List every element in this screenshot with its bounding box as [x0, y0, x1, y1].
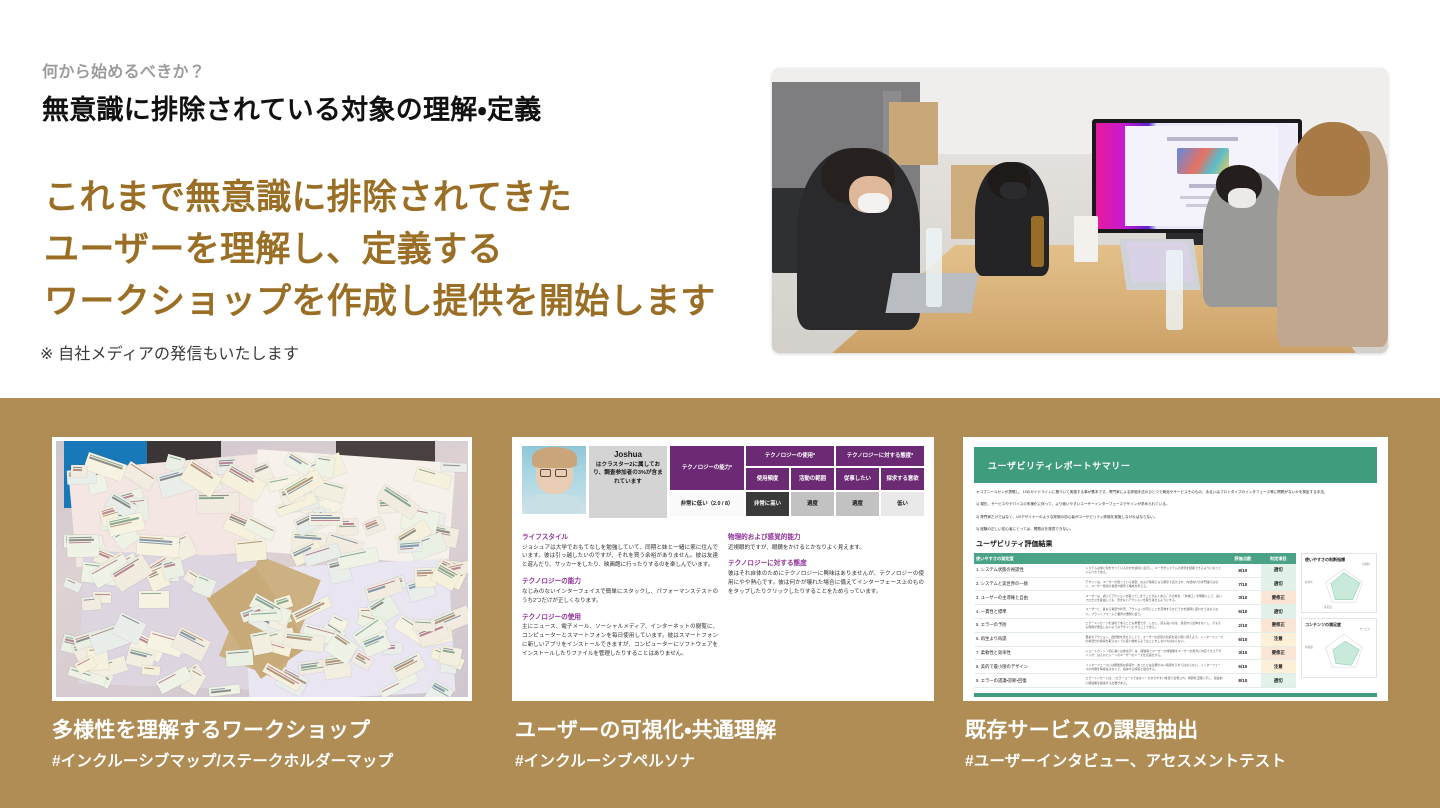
cell-score: 7/10: [1225, 577, 1260, 591]
matrix-header-capability: テクノロジーの能力*: [670, 446, 744, 490]
cell-score: 6/10: [1225, 660, 1260, 674]
water-bottle-1: [926, 228, 942, 308]
sticky-note: [197, 493, 239, 514]
screen-subtitle-bar: [1189, 184, 1217, 188]
table-row: 1. システム状態の視認性システムは常に何をやっているのかを適切に表示し、ユーザ…: [974, 564, 1296, 577]
persona-heading-attitude: テクノロジーに対する態度: [728, 557, 924, 567]
cell-description: ユーザーは、誤ってアクションを取ってしまうことがよくある。その場合、「非常口」を…: [1083, 591, 1225, 605]
caption-workshop: 多様性を理解するワークショップ #インクルーシブマップ/ステークホルダーマップ: [52, 718, 393, 771]
report-header-banner: ユーザビリティレポートサマリー: [974, 447, 1377, 483]
persona-name: Joshua: [593, 450, 663, 459]
lead-line-3: ワークショップを作成し提供を開始します: [44, 276, 764, 328]
report-intro-block: ヤコブニールセンが提唱し、10のガイドラインに基づいて実施する事が基本です。専門…: [974, 489, 1377, 532]
sticky-note: [309, 513, 343, 525]
sticky-note: [136, 534, 179, 557]
sticky-note: [70, 464, 86, 476]
tea-bottle: [1031, 216, 1045, 267]
matrix-value-range: 適度: [791, 492, 834, 516]
caption-1-title: 多様性を理解するワークショップ: [52, 718, 393, 745]
radar-svg-usability: [1305, 564, 1373, 612]
paper-cup: [1074, 216, 1099, 262]
persona-bio-text: はクラスター2に属しており、調査参加者の3%が含まれています: [593, 462, 662, 485]
persona-column-right: 物理的および感覚的能力 近視眼的ですが、眼鏡をかけるとかなりよく見えます。 テク…: [728, 526, 924, 659]
laptop-2-screen: [1126, 242, 1193, 282]
avatar-shirt: [526, 494, 582, 514]
person-1-mask: [858, 193, 889, 213]
matrix-header-usage: テクノロジーの使用*: [746, 446, 834, 466]
report-intro-line-4: 3) 経験の正しい初心者にとっては、問題点を発見できない。: [976, 526, 1375, 532]
sticky-note: [413, 620, 435, 632]
matrix-group-attitude: テクノロジーに対する態度* 従事したい 探求する意欲 適度 低い: [836, 446, 924, 518]
status-badge: 適切: [1261, 564, 1296, 577]
caption-3-tag: #ユーザーインタビュー、アセスメントテスト: [965, 749, 1286, 771]
cell-score: 8/10: [1225, 674, 1260, 688]
persona-text-tech-ability: なじみのないインターフェイスで簡単にスタックし、パフォーマンステストのうち2つだ…: [522, 588, 718, 606]
persona-text-physical: 近視眼的ですが、眼鏡をかけるとかなりよく見えます。: [728, 544, 924, 553]
person-2-mask: [1000, 182, 1027, 199]
usability-results-table: 使いやすさの測定度 評価点数 判定項目 1. システム状態の視認性システムは常に…: [974, 553, 1296, 688]
matrix-group-usage: テクノロジーの使用* 使用頻度 活動の範囲 非常に高い 適度: [746, 446, 834, 518]
status-badge: 注意: [1261, 632, 1296, 646]
cell-description: エラーメッセージは、（エラーコードではなく）わかりやすい言葉で表現され、問題を正…: [1083, 674, 1225, 688]
cell-score: 6/10: [1225, 605, 1260, 619]
cell-description: ショートカット（初心者には非表示）は、経験者とユーザーの体験量をユーザーの両方に…: [1083, 646, 1225, 660]
radar-chart-usability: 使いやすさの判断指標 信頼性 効率性: [1301, 553, 1377, 613]
table-row: 7. 柔軟性と効率性ショートカット（初心者には非表示）は、経験者とユーザーの体験…: [974, 646, 1296, 660]
sticky-note: [250, 630, 273, 655]
table-row: 9. エラーの認識・診断・回復エラーメッセージは、（エラーコードではなく）わかり…: [974, 674, 1296, 688]
table-row: 4. 一貫性と標準ユーザーに、異なる言葉や状況、アクションが同じことを意味するか…: [974, 605, 1296, 619]
col-header-status: 判定項目: [1261, 553, 1296, 564]
radar-label-u-3: 満足度: [1324, 605, 1332, 609]
cell-criterion: 5. エラーの予防: [974, 619, 1083, 633]
matrix-subheader-engage: 従事したい: [836, 468, 879, 490]
persona-column-left: ライフスタイル ジョシュアは大学でおもてなしを勉強していて、同期と妹と一緒に家に…: [522, 526, 718, 659]
report-intro-line-2: 1) 現在、サービスやデバイスの多様化に伴って、より使いやすいユーザーインターフ…: [976, 501, 1375, 507]
cell-description: デザインは、ユーザーの知っている言葉、および情報となる順序で表示され、内部向けの…: [1083, 577, 1225, 591]
radar-label-c-2: 情報量: [1305, 645, 1313, 649]
persona-bio-box: Joshua はクラスター2に属しており、調査参加者の3%が含まれています: [589, 446, 667, 518]
person-4-hair: [1296, 122, 1370, 196]
cell-score: 3/10: [1225, 591, 1260, 605]
cell-score: 6/10: [1225, 632, 1260, 646]
cell-description: インターフェースには無関係な情報や、めったには必要のない情報を入れてはならない。…: [1083, 660, 1225, 674]
sticky-note: [235, 539, 267, 563]
lead-line-1: これまで無意識に排除されてきた: [44, 172, 764, 224]
table-body: 1. システム状態の視認性システムは常に何をやっているのかを適切に表示し、ユーザ…: [974, 564, 1296, 688]
status-badge: 適切: [1261, 605, 1296, 619]
workshop-sticky-notes-photo: [52, 437, 472, 701]
table-head: 使いやすさの測定度 評価点数 判定項目: [974, 553, 1296, 564]
table-row: 8. 美的で最小限のデザインインターフェースには無関係な情報や、めったには必要の…: [974, 660, 1296, 674]
table-row: 2. システムと実世界の一致デザインは、ユーザーの知っている言葉、および情報とな…: [974, 577, 1296, 591]
water-bottle-2: [1166, 250, 1183, 330]
sticky-note: [81, 596, 101, 611]
footnote-text: ※ 自社メディアの発信もいたします: [40, 340, 299, 364]
table-header-row: 使いやすさの測定度 評価点数 判定項目: [974, 553, 1296, 564]
matrix-value-frequency: 非常に高い: [746, 492, 789, 516]
report-section-title: ユーザビリティ評価結果: [976, 539, 1375, 549]
meeting-photo: [772, 68, 1388, 353]
cell-criterion: 7. 柔軟性と効率性: [974, 646, 1083, 660]
matrix-subheader-range: 活動の範囲: [791, 468, 834, 490]
lead-paragraph: これまで無意識に排除されてきた ユーザーを理解し、定義する ワークショップを作成…: [44, 172, 764, 328]
cell-description: ユーザーに、異なる言葉や状況、アクションが同じことを意味するかどうかを疑問に思わ…: [1083, 605, 1225, 619]
radar-label-u-1: 信頼性: [1362, 562, 1370, 566]
cell-criterion: 3. ユーザーの主導権と自由: [974, 591, 1083, 605]
avatar-glasses-left: [540, 469, 552, 477]
cell-criterion: 1. システム状態の視認性: [974, 564, 1083, 577]
col-header-score: 評価点数: [1225, 553, 1260, 564]
table-row: 5. エラーの予防エラーメッセージを適切であることも重要だが、しかし、最も良いの…: [974, 619, 1296, 633]
persona-avatar: [522, 446, 586, 514]
status-badge: 要修正: [1261, 646, 1296, 660]
cell-description: 要素やアクション、選択肢を見せることで、ユーザーの記憶の負荷を最小限に抑えよう。…: [1083, 632, 1225, 646]
persona-heading-lifestyle: ライフスタイル: [522, 531, 718, 541]
col-header-description: [1083, 553, 1225, 564]
status-badge: 要修正: [1261, 591, 1296, 605]
caption-report: 既存サービスの課題抽出 #ユーザーインタビュー、アセスメントテスト: [965, 718, 1286, 771]
caption-3-title: 既存サービスの課題抽出: [965, 718, 1286, 745]
eyebrow-text: 何から始めるべきか？: [42, 58, 205, 82]
cell-criterion: 4. 一貫性と標準: [974, 605, 1083, 619]
persona-heading-tech-usage: テクノロジーの使用: [522, 611, 718, 621]
matrix-group-capability: テクノロジーの能力* 非常に低い（2.0 / 8）: [670, 446, 744, 518]
persona-text-attitude: 彼はそれ自体のためにテクノロジーに興味はありませんが、テクノロジーの使用にやや熱…: [728, 570, 924, 597]
cell-score: 2/10: [1225, 619, 1260, 633]
col-header-criterion: 使いやすさの測定度: [974, 553, 1083, 564]
matrix-value-capability: 非常に低い（2.0 / 8）: [670, 492, 744, 516]
caption-1-tag: #インクルーシブマップ/ステークホルダーマップ: [52, 749, 393, 771]
usability-report-card: ユーザビリティレポートサマリー ヤコブニールセンが提唱し、10のガイドラインに基…: [963, 437, 1388, 701]
sticky-note: [139, 591, 169, 608]
radar-svg-content: [1305, 629, 1373, 677]
top-section: 何から始めるべきか？ 無意識に排除されている対象の理解・定義 これまで無意識に排…: [0, 0, 1440, 398]
cell-description: システムは常に何をやっているのかを適切に表示し、ユーザがシステムの状況を把握でき…: [1083, 564, 1225, 577]
status-badge: 要修正: [1261, 619, 1296, 633]
sticky-note: [441, 463, 467, 473]
cell-criterion: 8. 美的で最小限のデザイン: [974, 660, 1083, 674]
table-row: 3. ユーザーの主導権と自由ユーザーは、誤ってアクションを取ってしまうことがよく…: [974, 591, 1296, 605]
matrix-subheader-frequency: 使用頻度: [746, 468, 789, 490]
page-title: 無意識に排除されている対象の理解・定義: [42, 88, 542, 127]
report-radar-panel: 使いやすさの判断指標 信頼性 効率性: [1301, 553, 1377, 688]
report-content: ユーザビリティレポートサマリー ヤコブニールセンが提唱し、10のガイドラインに基…: [967, 441, 1384, 697]
avatar-glasses-right: [555, 469, 567, 477]
persona-content: Joshua はクラスター2に属しており、調査参加者の3%が含まれています テク…: [516, 441, 930, 697]
radar-label-u-2: 効率性: [1305, 580, 1313, 584]
screen-title-bar: [1167, 137, 1237, 141]
cell-criterion: 9. エラーの認識・診断・回復: [974, 674, 1083, 688]
sticky-note: [225, 649, 253, 667]
cell-criterion: 6. 再生より再認: [974, 632, 1083, 646]
persona-heading-tech-ability: テクノロジーの能力: [522, 575, 718, 585]
table-row: 6. 再生より再認要素やアクション、選択肢を見せることで、ユーザーの記憶の負荷を…: [974, 632, 1296, 646]
persona-text-lifestyle: ジョシュアは大学でおもてなしを勉強していて、同期と妹と一緒に家に住んでいます。彼…: [522, 544, 718, 571]
matrix-value-engage: 適度: [836, 492, 879, 516]
status-badge: 注意: [1261, 660, 1296, 674]
sticky-note: [67, 534, 100, 557]
status-badge: 適切: [1261, 674, 1296, 688]
report-intro-line-1: ヤコブニールセンが提唱し、10のガイドラインに基づいて実施する事が基本です。専門…: [976, 489, 1375, 495]
status-badge: 適切: [1261, 577, 1296, 591]
cell-criterion: 2. システムと実世界の一致: [974, 577, 1083, 591]
report-title: ユーザビリティレポートサマリー: [988, 459, 1130, 472]
report-body-row: 使いやすさの測定度 評価点数 判定項目 1. システム状態の視認性システムは常に…: [974, 553, 1377, 688]
caption-persona: ユーザーの可視化・共通理解 #インクルーシブペルソナ: [515, 718, 776, 771]
persona-heading-physical: 物理的および感覚的能力: [728, 531, 924, 541]
radar-label-c-1: サービス: [1360, 627, 1370, 631]
report-footer-bar: [974, 693, 1377, 701]
caption-2-title: ユーザーの可視化・共通理解: [515, 718, 776, 745]
lead-line-2: ユーザーを理解し、定義する: [44, 224, 764, 276]
matrix-subheader-explore: 探求する意欲: [881, 468, 924, 490]
cell-score: 3/10: [1225, 646, 1260, 660]
person-3-mask: [1228, 188, 1256, 208]
persona-detail-columns: ライフスタイル ジョシュアは大学でおもてなしを勉強していて、同期と妹と一緒に家に…: [522, 526, 924, 659]
matrix-header-attitude: テクノロジーに対する態度*: [836, 446, 924, 466]
persona-attribute-matrix: テクノロジーの能力* 非常に低い（2.0 / 8） テクノロジーの使用* 使用頻…: [670, 446, 924, 518]
cell-score: 8/10: [1225, 564, 1260, 577]
cell-description: エラーメッセージを適切であることも重要だが、しかし、最も良いのは、最初から全体を…: [1083, 619, 1225, 633]
inclusive-persona-card: Joshua はクラスター2に属しており、調査参加者の3%が含まれています テク…: [512, 437, 934, 701]
persona-header-row: Joshua はクラスター2に属しており、調査参加者の3%が含まれています テク…: [522, 446, 924, 518]
cardboard-box: [889, 102, 938, 165]
radar-chart-content: コンテンツの満足度 サービス 情報量: [1301, 618, 1377, 678]
caption-2-tag: #インクルーシブペルソナ: [515, 749, 776, 771]
slide-root: 何から始めるべきか？ 無意識に排除されている対象の理解・定義 これまで無意識に排…: [0, 0, 1440, 808]
report-intro-line-3: 2) 専門家だけではなく、UXデザイナーのような評価の初心者がユーザビリティ評価…: [976, 514, 1375, 520]
persona-text-tech-usage: 主にニュース、電子メール、ソーシャルメディア、インターネットの閲覧に、コンピュー…: [522, 623, 718, 659]
matrix-value-explore: 低い: [881, 492, 924, 516]
avatar-hair: [532, 447, 577, 467]
